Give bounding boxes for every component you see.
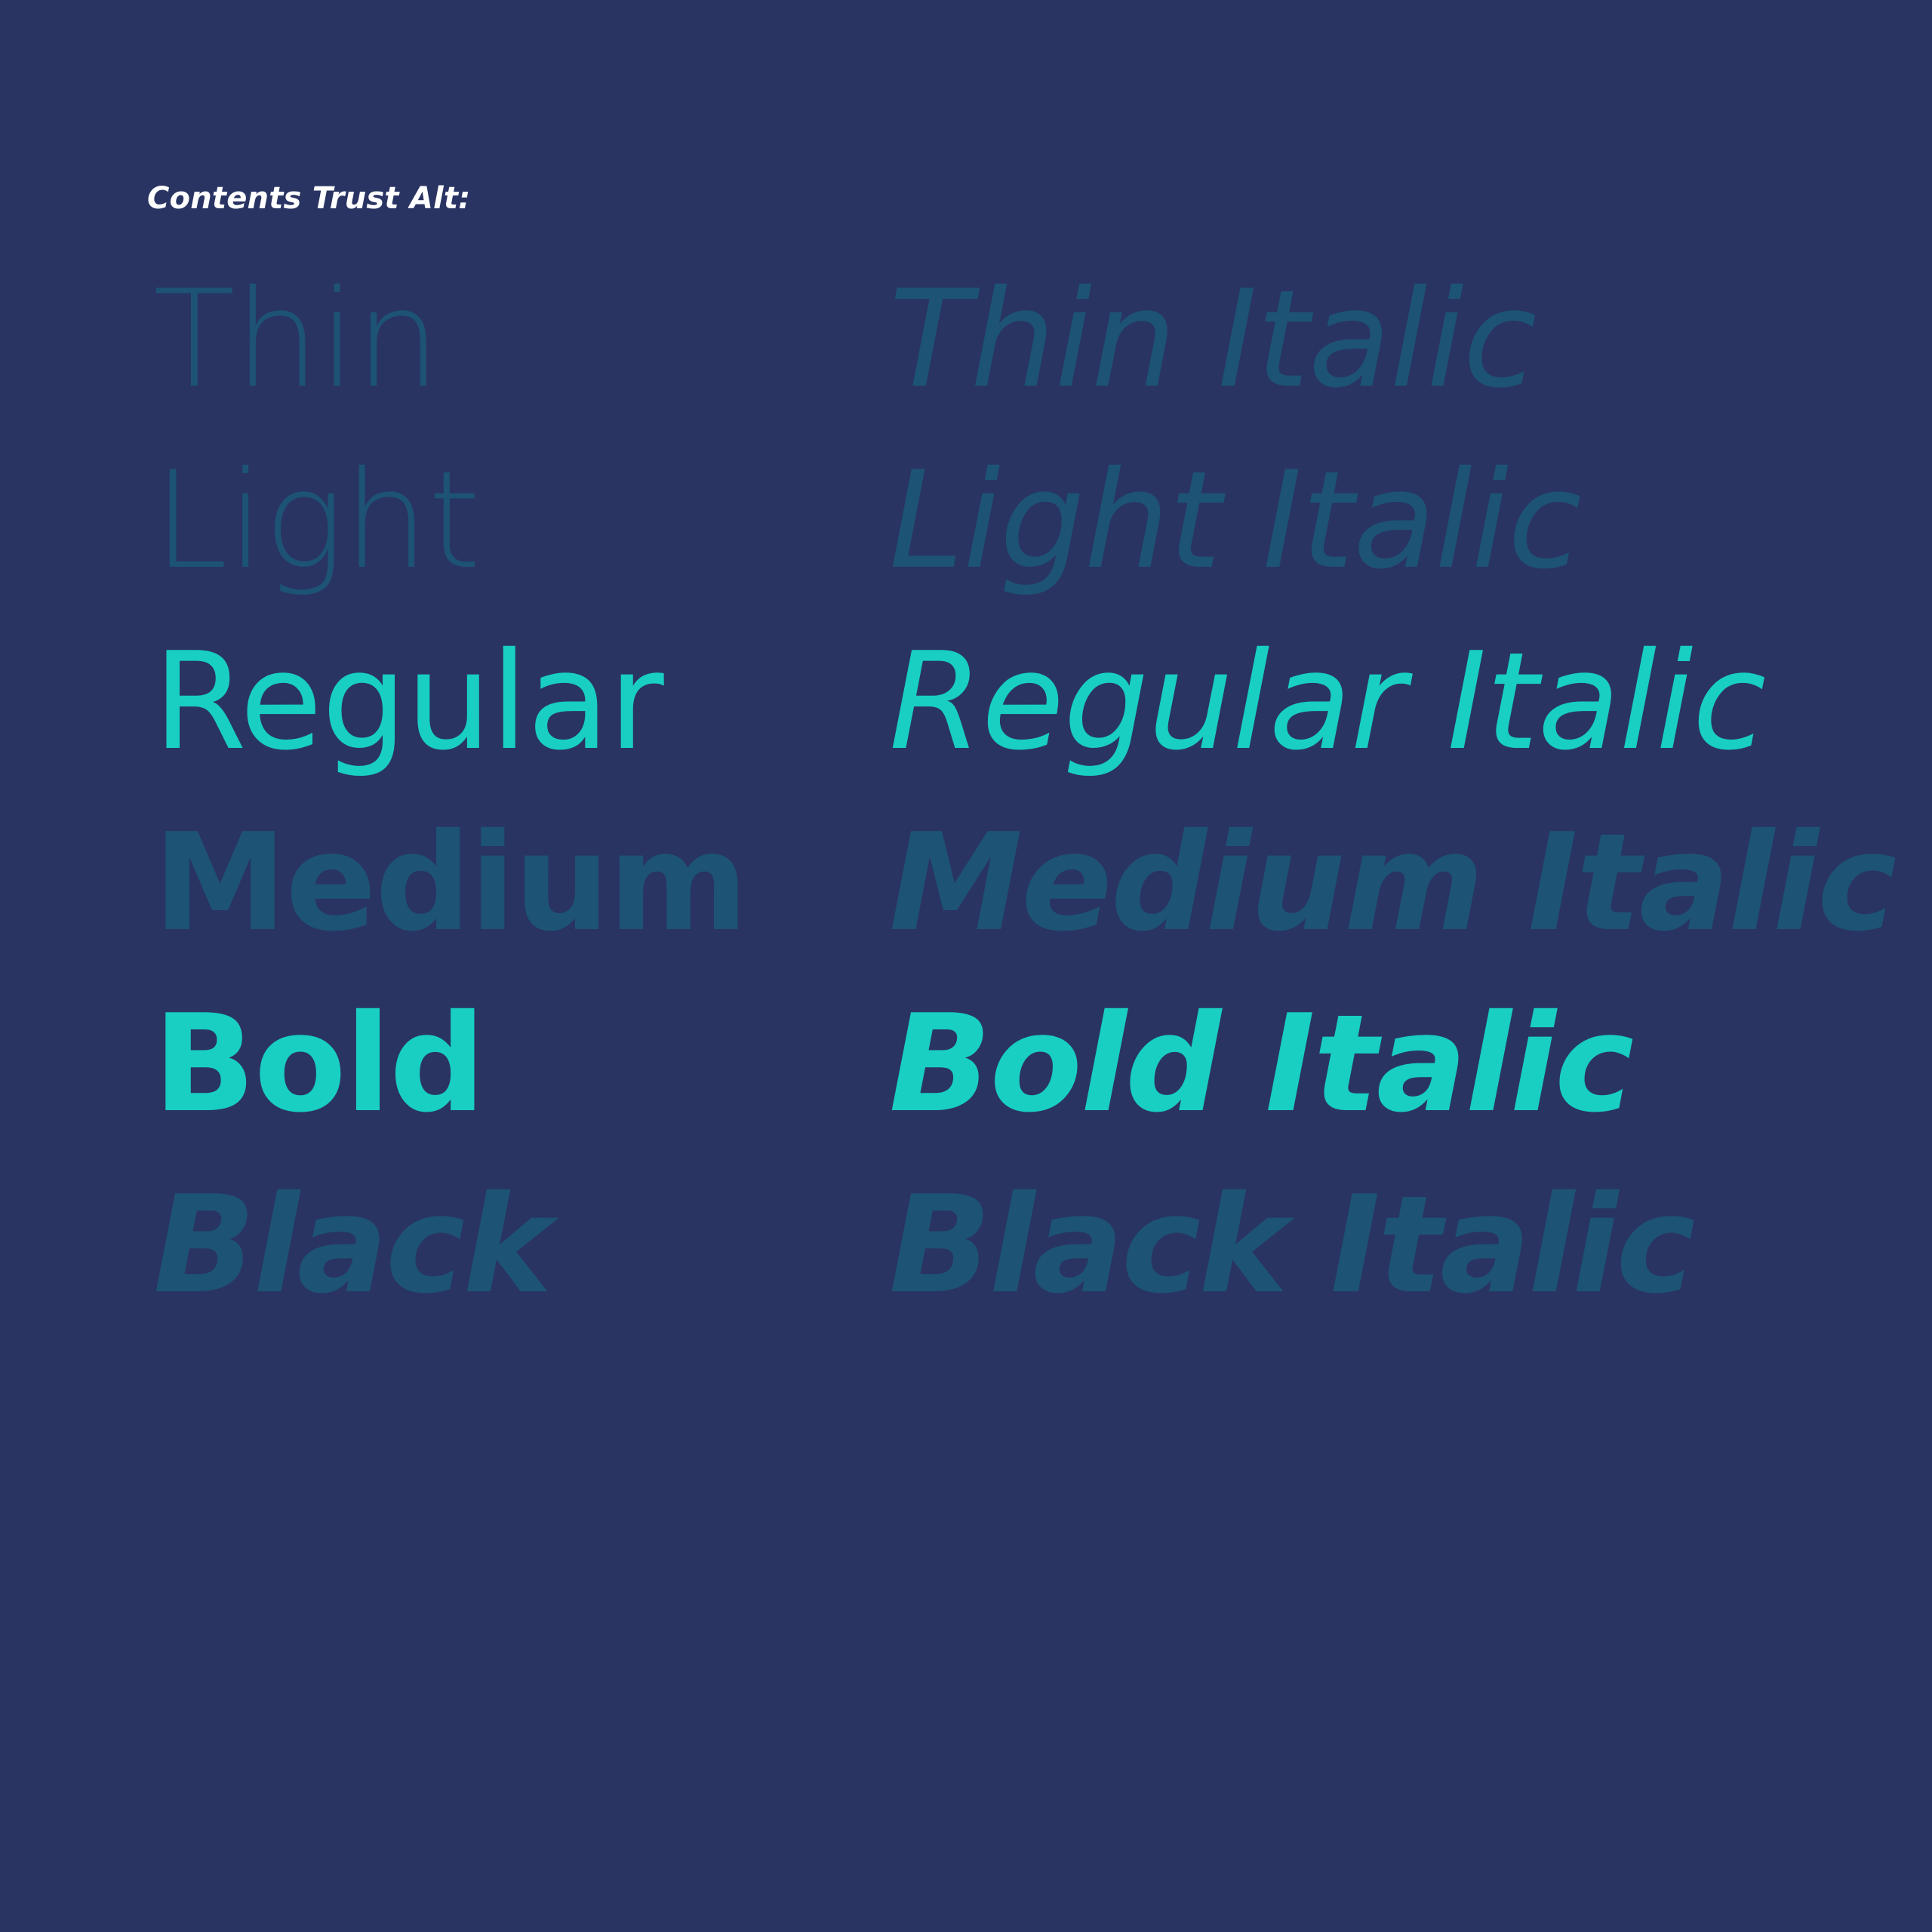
specimen-sample-light-italic: Light Italic	[889, 430, 1581, 611]
specimen-sample-regular-italic: Regular Italic	[889, 611, 1765, 792]
specimen-row-light: Light Light Italic	[0, 430, 1932, 611]
specimen-sample-black-italic: Black Italic	[889, 1155, 1694, 1336]
specimen-title: Contents Trust Alt:	[147, 181, 470, 216]
specimen-sample-regular: Regular	[153, 611, 663, 792]
specimen-grid: Thin Thin Italic Light Light Italic Regu…	[0, 249, 1932, 1336]
specimen-sample-light: Light	[153, 430, 480, 611]
specimen-sample-medium: Medium	[153, 792, 746, 974]
specimen-sample-bold: Bold	[153, 974, 484, 1155]
specimen-sample-medium-italic: Medium Italic	[889, 792, 1895, 974]
specimen-sample-thin-italic: Thin Italic	[889, 249, 1537, 430]
specimen-row-medium: Medium Medium Italic	[0, 792, 1932, 974]
specimen-sample-black: Black	[153, 1155, 550, 1336]
specimen-row-regular: Regular Regular Italic	[0, 611, 1932, 792]
specimen-sample-thin: Thin	[153, 249, 440, 430]
specimen-row-thin: Thin Thin Italic	[0, 249, 1932, 430]
specimen-row-black: Black Black Italic	[0, 1155, 1932, 1336]
font-specimen-sheet: Contents Trust Alt: Thin Thin Italic Lig…	[0, 0, 1932, 1932]
specimen-sample-bold-italic: Bold Italic	[889, 974, 1632, 1155]
specimen-row-bold: Bold Bold Italic	[0, 974, 1932, 1155]
